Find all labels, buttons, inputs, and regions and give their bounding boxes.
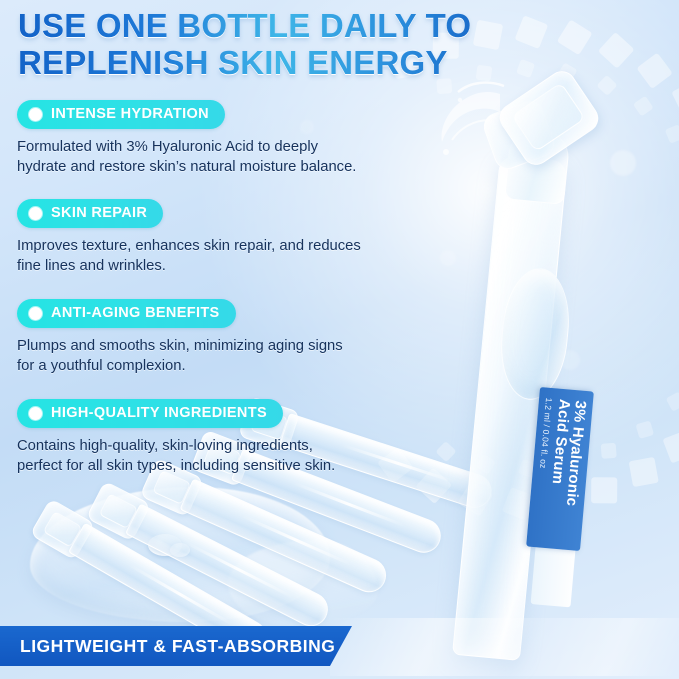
filled-circle-icon xyxy=(29,108,42,121)
filled-circle-icon xyxy=(29,307,42,320)
ring-square xyxy=(598,32,635,69)
ring-square xyxy=(515,15,549,49)
benefit-description: Contains high-quality, skin-loving ingre… xyxy=(17,437,447,477)
headline-line-2: REPLENISH SKIN ENERGY xyxy=(18,45,518,82)
benefit-block-skin-repair: SKIN REPAIR Improves texture, enhances s… xyxy=(17,199,487,277)
page-title: USE ONE BOTTLE DAILY TO REPLENISH SKIN E… xyxy=(18,8,518,82)
benefit-block-intense-hydration: INTENSE HYDRATION Formulated with 3% Hya… xyxy=(17,100,487,178)
product-marketing-poster: 3% Hyaluronic Acid Serum 1.2 ml / 0.04 f… xyxy=(0,0,679,679)
benefit-label: HIGH-QUALITY INGREDIENTS xyxy=(51,405,267,421)
benefit-description-line: fine lines and wrinkles. xyxy=(17,257,447,277)
benefit-description: Plumps and smooths skin, minimizing agin… xyxy=(17,337,447,377)
benefit-description-line: Formulated with 3% Hyaluronic Acid to de… xyxy=(17,138,447,158)
bottom-banner-text: LIGHTWEIGHT & FAST-ABSORBING xyxy=(0,636,335,657)
bottom-banner: LIGHTWEIGHT & FAST-ABSORBING xyxy=(0,626,352,666)
benefit-description: Formulated with 3% Hyaluronic Acid to de… xyxy=(17,138,447,178)
benefit-pill-anti-aging-benefits: ANTI-AGING BENEFITS xyxy=(17,299,236,328)
benefit-label: INTENSE HYDRATION xyxy=(51,106,209,122)
benefit-description-line: perfect for all skin types, including se… xyxy=(17,457,447,477)
ring-square xyxy=(557,19,593,55)
benefit-label: SKIN REPAIR xyxy=(51,205,147,221)
filled-circle-icon xyxy=(29,207,42,220)
benefit-description-line: Plumps and smooths skin, minimizing agin… xyxy=(17,337,447,357)
benefit-description-line: for a youthful complexion. xyxy=(17,357,447,377)
benefit-pill-intense-hydration: INTENSE HYDRATION xyxy=(17,100,225,129)
benefit-block-high-quality-ingredients: HIGH-QUALITY INGREDIENTS Contains high-q… xyxy=(17,399,487,477)
filled-circle-icon xyxy=(29,407,42,420)
benefit-description-line: Improves texture, enhances skin repair, … xyxy=(17,237,447,257)
benefit-description-line: Contains high-quality, skin-loving ingre… xyxy=(17,437,447,457)
benefit-description-line: hydrate and restore skin’s natural moist… xyxy=(17,158,447,178)
benefit-pill-high-quality-ingredients: HIGH-QUALITY INGREDIENTS xyxy=(17,399,283,428)
benefit-block-anti-aging-benefits: ANTI-AGING BENEFITS Plumps and smooths s… xyxy=(17,299,487,377)
headline-line-1: USE ONE BOTTLE DAILY TO xyxy=(18,8,518,45)
hero-product-ampoule: 3% Hyaluronic Acid Serum 1.2 ml / 0.04 f… xyxy=(470,72,679,632)
benefit-label: ANTI-AGING BENEFITS xyxy=(51,305,220,321)
benefit-description: Improves texture, enhances skin repair, … xyxy=(17,237,447,277)
benefit-pill-skin-repair: SKIN REPAIR xyxy=(17,199,163,228)
